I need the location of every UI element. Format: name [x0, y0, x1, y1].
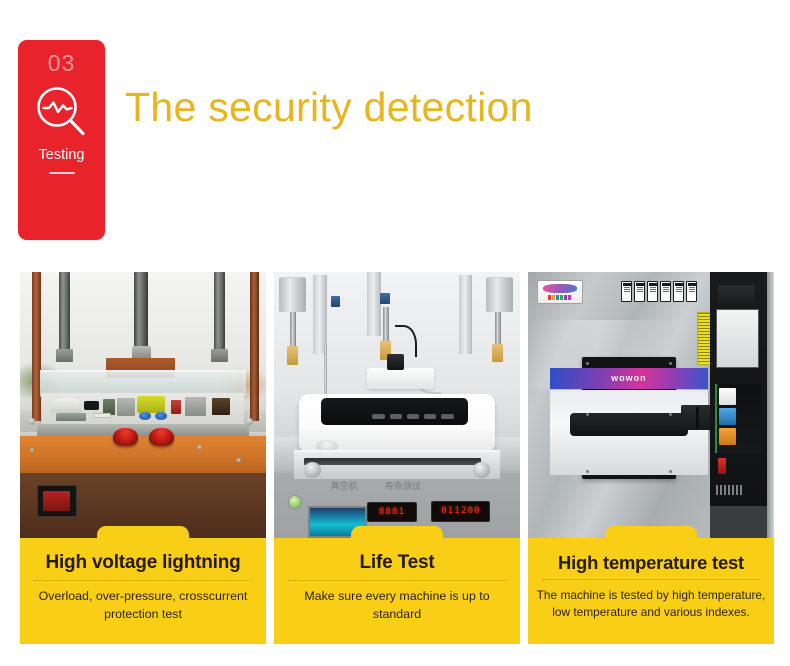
high-voltage-test-fixture-photo	[20, 272, 266, 538]
card-caption: High voltage lightning Overload, over-pr…	[20, 538, 266, 644]
caption-divider	[542, 579, 760, 580]
card-high-temperature[interactable]: wowon	[528, 272, 774, 644]
card-row: High voltage lightning Overload, over-pr…	[20, 272, 774, 644]
photo-control-panel	[710, 272, 767, 538]
photo-power-strip	[367, 368, 433, 389]
card-description: Make sure every machine is up to standar…	[282, 588, 512, 624]
caption-divider	[288, 580, 506, 581]
high-temperature-chamber-photo: wowon	[528, 272, 774, 538]
card-caption: Life Test Make sure every machine is up …	[274, 538, 520, 644]
badge-number: 03	[48, 52, 76, 75]
photo-rocker-switch	[37, 485, 76, 517]
card-description: The machine is tested by high temperatur…	[536, 587, 766, 622]
page-title: The security detection	[125, 84, 533, 131]
photo-led-display-left: 8881	[367, 502, 416, 522]
card-title: High temperature test	[536, 552, 766, 573]
photo-brand-badge	[537, 280, 584, 304]
card-title: Life Test	[282, 552, 512, 574]
badge-underline	[49, 172, 75, 174]
card-description: Overload, over-pressure, crosscurrent pr…	[28, 588, 258, 624]
photo-warning-labels	[621, 281, 697, 302]
card-high-voltage[interactable]: High voltage lightning Overload, over-pr…	[20, 272, 266, 644]
card-title: High voltage lightning	[28, 552, 258, 574]
header: 03 Testing The security detection	[0, 0, 790, 260]
badge-label: Testing	[39, 147, 85, 163]
section-badge: 03 Testing	[18, 40, 105, 240]
photo-led-display-right: 011200	[431, 501, 490, 522]
caption-divider	[34, 580, 252, 581]
card-caption: High temperature test The machine is tes…	[528, 538, 774, 644]
card-life-test[interactable]: 真空机 寿命测试 8881 011200 Life Test Make sure…	[274, 272, 520, 644]
life-test-rig-photo: 真空机 寿命测试 8881 011200	[274, 272, 520, 538]
slide-root: 03 Testing The security detection	[0, 0, 790, 666]
magnifier-pulse-icon	[33, 84, 91, 140]
photo-indicator-lamp	[288, 495, 303, 508]
